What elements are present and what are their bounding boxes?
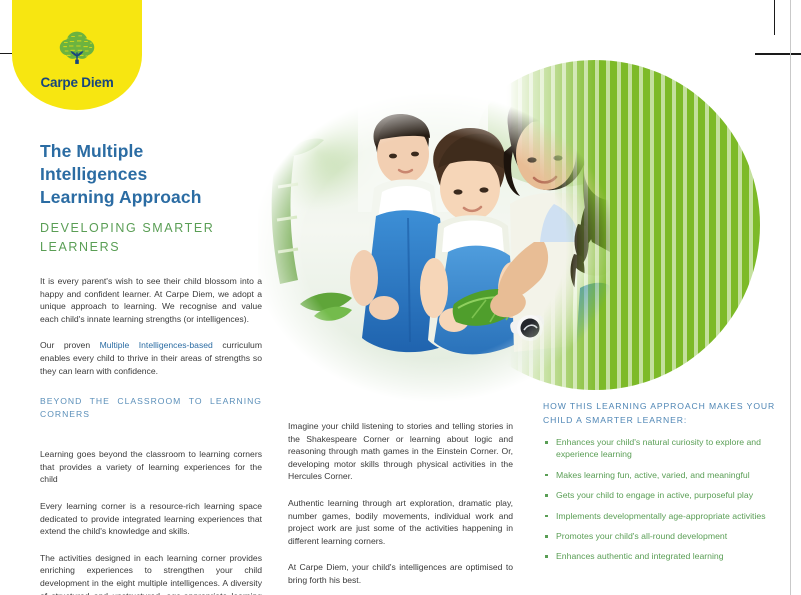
crop-mark-top-right-horizontal [755, 53, 801, 55]
list-item: Gets your child to engage in active, pur… [543, 489, 788, 501]
middle-paragraph-1: Imagine your child listening to stories … [288, 420, 513, 483]
brand-logo: Carpe Diem [12, 28, 142, 100]
list-item: Makes learning fun, active, varied, and … [543, 469, 788, 481]
list-item: Enhances authentic and integrated learni… [543, 550, 788, 562]
section-heading-beyond-classroom: BEYOND THE CLASSROOM TO LEARNING CORNERS [40, 395, 262, 434]
list-item: Promotes your child's all-round developm… [543, 530, 788, 542]
hero-photo [258, 92, 610, 402]
curriculum-paragraph-pre: Our proven [40, 340, 100, 350]
intro-paragraph: It is every parent's wish to see their c… [40, 275, 262, 325]
page-title-line2: Intelligences [40, 164, 147, 184]
page-title-line3: Learning Approach [40, 187, 201, 207]
curriculum-paragraph: Our proven Multiple Intelligences-based … [40, 339, 262, 377]
hero-photo-illustration [258, 92, 610, 402]
page-edge-rule [790, 0, 791, 595]
benefits-list: Enhances your child's natural curiosity … [543, 436, 788, 563]
tree-icon [54, 28, 100, 74]
middle-paragraph-2: Authentic learning through art explorati… [288, 497, 513, 547]
brochure-page: Carpe Diem The Multiple Intelligences Le… [0, 0, 801, 595]
middle-column: Imagine your child listening to stories … [288, 420, 513, 587]
right-column: HOW THIS LEARNING APPROACH MAKES YOUR CH… [543, 400, 788, 571]
list-item: Implements developmentally age-appropria… [543, 510, 788, 522]
middle-paragraph-3: At Carpe Diem, your child's intelligence… [288, 561, 513, 586]
crop-mark-top-right-vertical [774, 0, 775, 35]
brand-name: Carpe Diem [40, 75, 113, 90]
page-title-line1: The Multiple [40, 141, 143, 161]
list-item: Enhances your child's natural curiosity … [543, 436, 788, 461]
left-column: The Multiple Intelligences Learning Appr… [40, 140, 262, 595]
page-subtitle: DEVELOPING SMARTER LEARNERS [40, 219, 262, 257]
curriculum-highlight: Multiple Intelligences-based [100, 340, 213, 350]
benefits-heading: HOW THIS LEARNING APPROACH MAKES YOUR CH… [543, 400, 788, 427]
left-paragraph-3: The activities designed in each learning… [40, 552, 262, 595]
page-title: The Multiple Intelligences Learning Appr… [40, 140, 262, 209]
left-paragraph-2: Every learning corner is a resource-rich… [40, 500, 262, 538]
left-paragraph-1: Learning goes beyond the classroom to le… [40, 448, 262, 486]
